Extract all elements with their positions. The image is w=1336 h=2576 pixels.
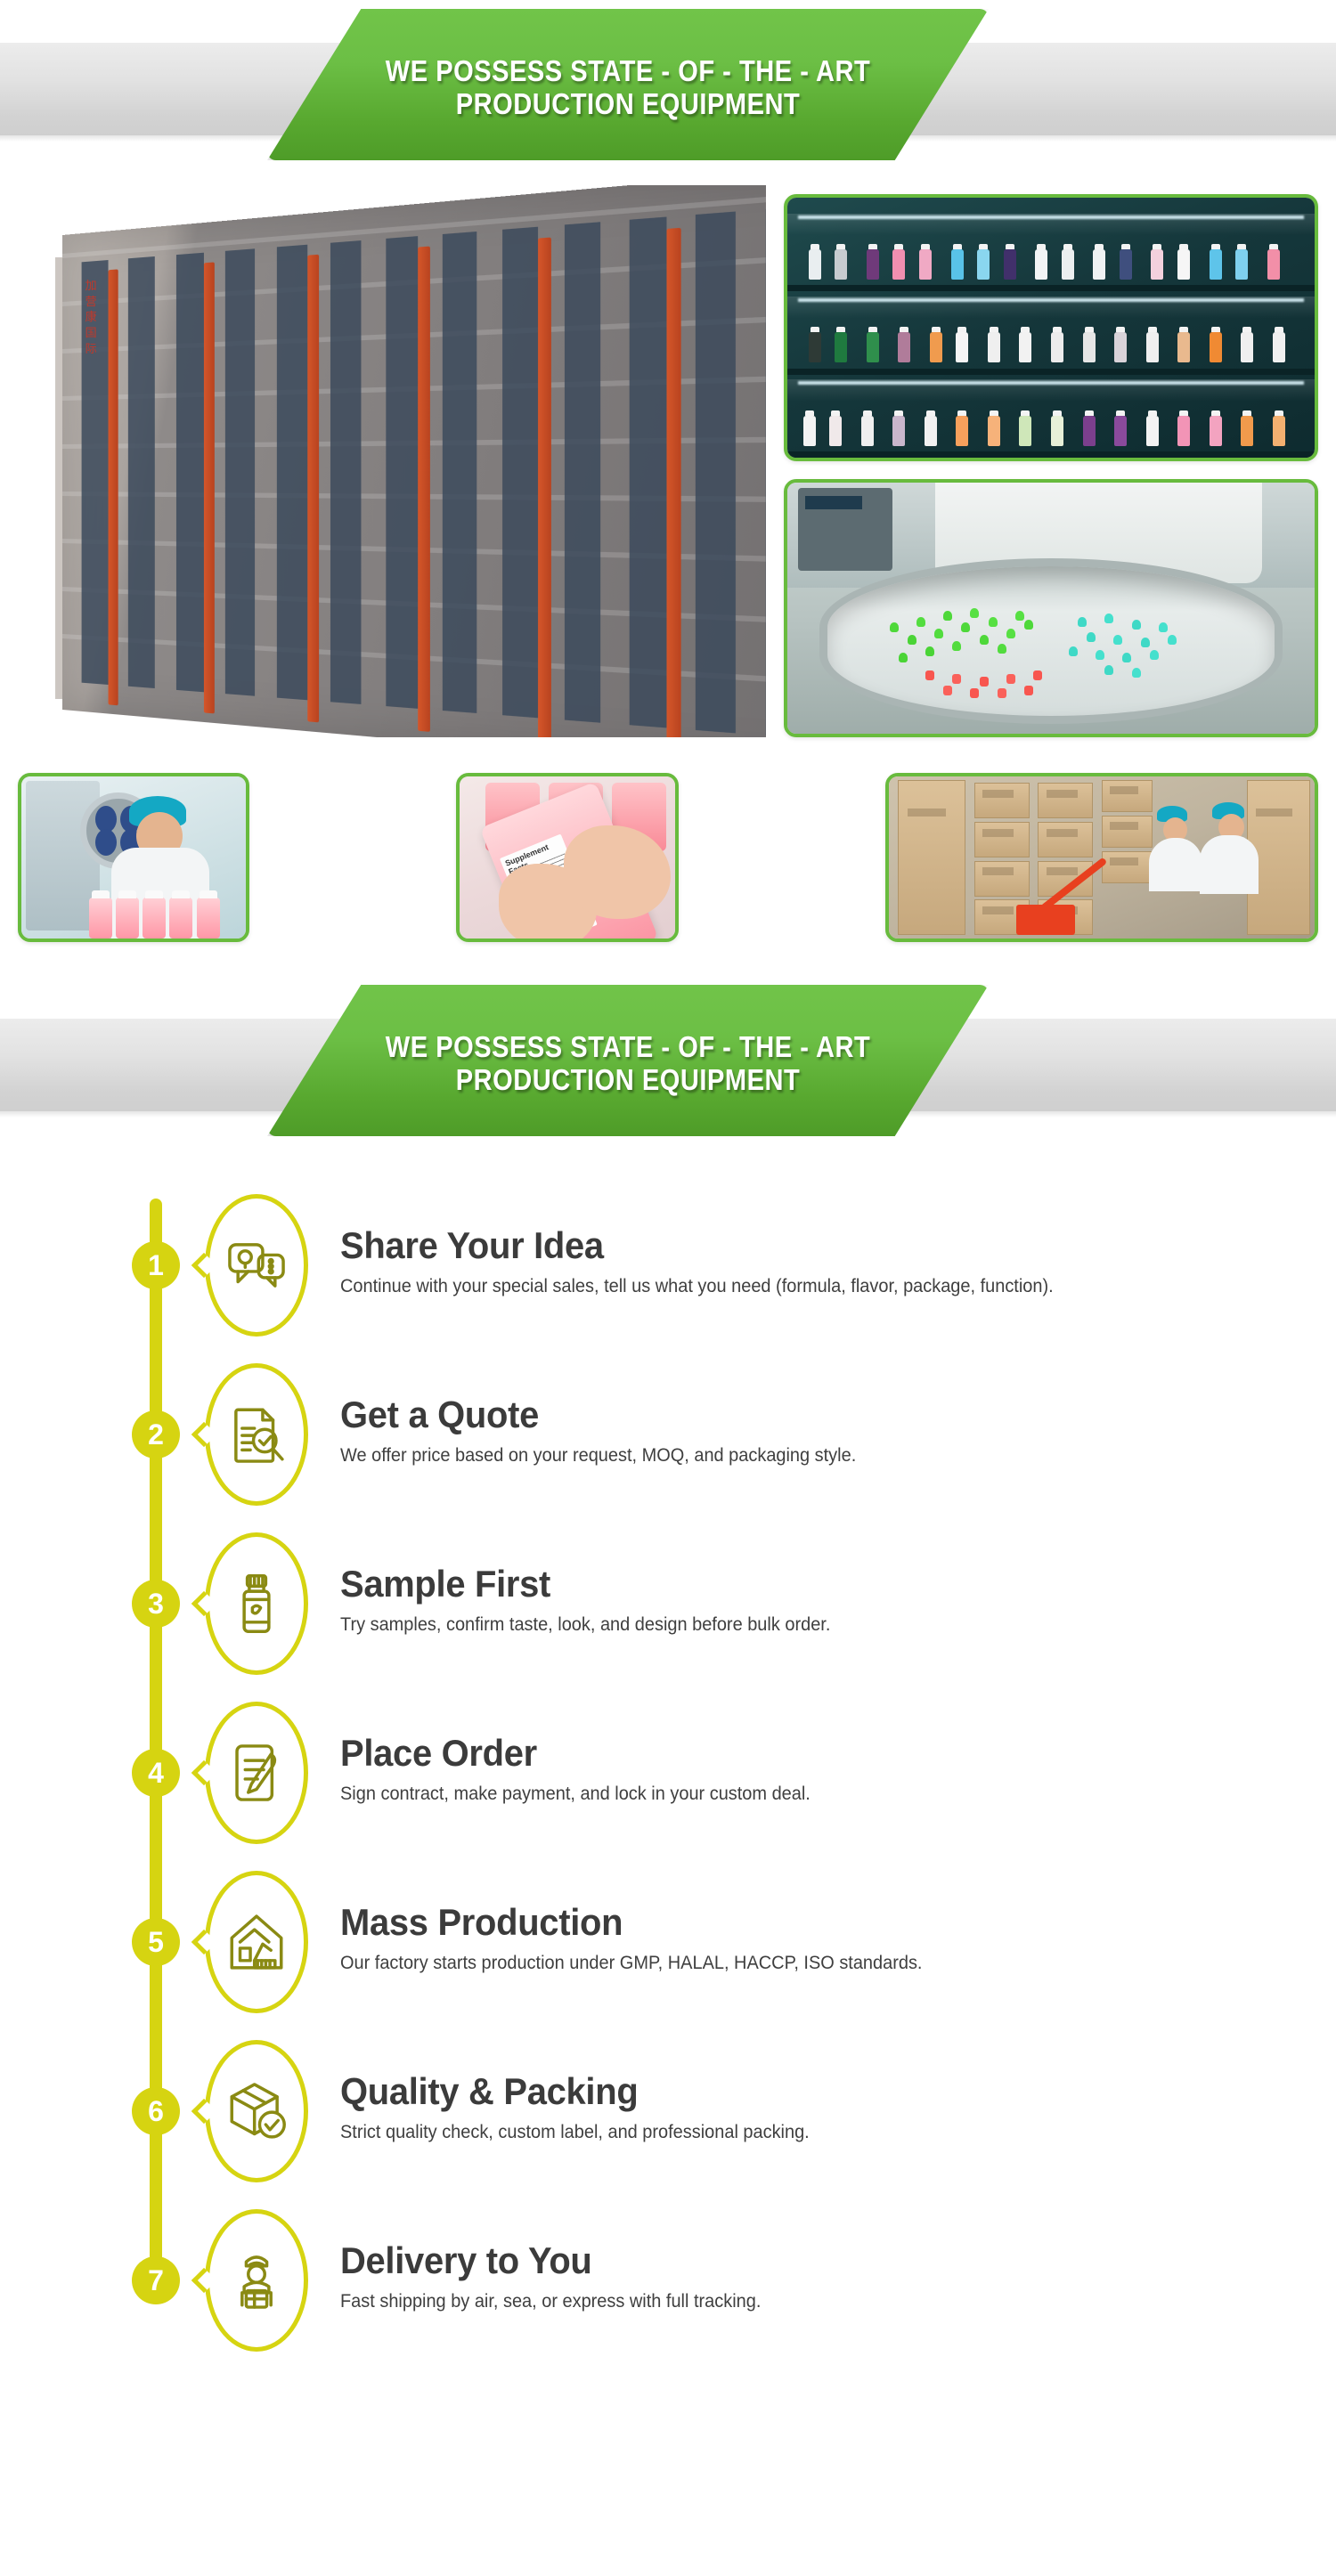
- coating-drum: [819, 558, 1283, 724]
- step-item[interactable]: 1 Share Your Idea Continue with your: [0, 1181, 1336, 1350]
- photo-factory-building: 加 营 康 国 际: [18, 185, 766, 737]
- step-text: Place Order Sign contract, make payment,…: [308, 1734, 835, 1812]
- section-banner-production-equipment: WE POSSESS STATE - OF - THE - ART PRODUC…: [0, 0, 1336, 178]
- step-item[interactable]: 6 Quality & Packing Strict quality check…: [0, 2027, 1336, 2196]
- step-title: Sample First: [340, 1564, 830, 1604]
- step-description: Try samples, confirm taste, look, and de…: [340, 1613, 830, 1637]
- step-title: Share Your Idea: [340, 1226, 1054, 1265]
- step-text: Share Your Idea Continue with your speci…: [308, 1226, 1091, 1304]
- photo-production-line-worker: [18, 773, 249, 942]
- photo-warehouse-shipping: [885, 773, 1318, 942]
- step-title: Get a Quote: [340, 1395, 856, 1434]
- controller-panel: [798, 488, 893, 571]
- step-number-badge: 7: [132, 2256, 180, 2304]
- step-text: Quality & Packing Strict quality check, …: [308, 2072, 834, 2150]
- section-banner-process-steps: WE POSSESS STATE - OF - THE - ART PRODUC…: [0, 976, 1336, 1154]
- step-number-badge: 1: [132, 1241, 180, 1289]
- document-magnifier-check-icon: [205, 1363, 308, 1506]
- step-item[interactable]: 4 Place Order Sign contract, make paymen…: [0, 1688, 1336, 1857]
- step-item[interactable]: 5 Mass Production Our factory starts pro…: [0, 1857, 1336, 2027]
- chat-bubbles-idea-icon: [205, 1194, 308, 1337]
- supplement-bottle-icon: [205, 1532, 308, 1675]
- step-text: Get a Quote We offer price based on your…: [308, 1395, 884, 1474]
- facility-photo-gallery: 加 营 康 国 际: [0, 178, 1336, 976]
- delivery-man-parcel-icon: [205, 2209, 308, 2352]
- photo-gummy-coating-pan: [784, 479, 1318, 737]
- step-number-badge: 4: [132, 1749, 180, 1797]
- step-item[interactable]: 3 Sample First Try samples, confirm tast…: [0, 1519, 1336, 1688]
- promo-page: WE POSSESS STATE - OF - THE - ART PRODUC…: [0, 0, 1336, 2576]
- step-title: Quality & Packing: [340, 2072, 810, 2111]
- step-description: Fast shipping by air, sea, or express wi…: [340, 2289, 761, 2314]
- step-title: Place Order: [340, 1734, 811, 1773]
- process-steps-list: 1 Share Your Idea Continue with your: [0, 1154, 1336, 2401]
- step-number-badge: 2: [132, 1410, 180, 1459]
- step-number-badge: 5: [132, 1918, 180, 1966]
- step-number-badge: 3: [132, 1580, 180, 1628]
- step-title: Delivery to You: [340, 2241, 761, 2280]
- step-title: Mass Production: [340, 1903, 922, 1942]
- banner-title-line1: WE POSSESS STATE - OF - THE - ART: [377, 1031, 878, 1064]
- factory-house-icon: [205, 1871, 308, 2013]
- banner-green-ribbon: WE POSSESS STATE - OF - THE - ART PRODUC…: [267, 985, 989, 1136]
- step-number-badge: 6: [132, 2087, 180, 2135]
- banner-title-line2: PRODUCTION EQUIPMENT: [377, 88, 878, 121]
- banner-title: WE POSSESS STATE - OF - THE - ART PRODUC…: [377, 1024, 878, 1097]
- building-signage: 加 营 康 国 际: [86, 279, 100, 357]
- banner-green-ribbon: WE POSSESS STATE - OF - THE - ART PRODUC…: [267, 9, 989, 160]
- building-facade: [62, 185, 766, 737]
- photo-bottle-label-inspection: Supplement Facts: [456, 773, 679, 942]
- banner-title-line1: WE POSSESS STATE - OF - THE - ART: [377, 55, 878, 88]
- step-item[interactable]: 2 Get a Quote We offer price based on yo…: [0, 1350, 1336, 1519]
- gallery-row-top: 加 营 康 国 际: [0, 185, 1336, 773]
- step-description: Continue with your special sales, tell u…: [340, 1274, 1054, 1299]
- contract-pen-icon: [205, 1702, 308, 1844]
- step-text: Delivery to You Fast shipping by air, se…: [308, 2241, 783, 2320]
- step-description: We offer price based on your request, MO…: [340, 1443, 856, 1468]
- step-description: Our factory starts production under GMP,…: [340, 1951, 922, 1976]
- step-description: Sign contract, make payment, and lock in…: [340, 1782, 811, 1807]
- box-check-icon: [205, 2040, 308, 2182]
- step-text: Mass Production Our factory starts produ…: [308, 1903, 953, 1981]
- step-item[interactable]: 7 Delivery to You Fast shipping by air, …: [0, 2196, 1336, 2365]
- step-text: Sample First Try samples, confirm taste,…: [308, 1564, 856, 1643]
- step-description: Strict quality check, custom label, and …: [340, 2120, 810, 2145]
- banner-title: WE POSSESS STATE - OF - THE - ART PRODUC…: [377, 48, 878, 121]
- photo-product-display-shelves: [784, 194, 1318, 461]
- gallery-row-bottom: Supplement Facts: [0, 773, 1336, 951]
- banner-title-line2: PRODUCTION EQUIPMENT: [377, 1064, 878, 1097]
